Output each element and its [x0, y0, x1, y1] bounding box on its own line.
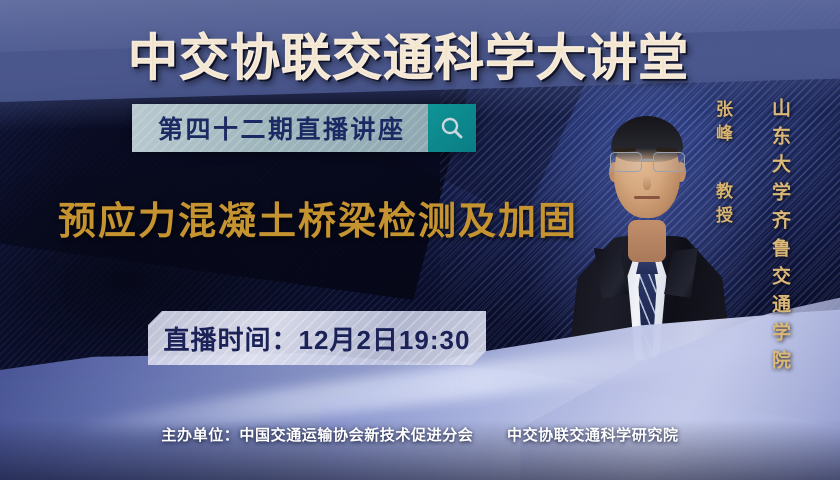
speaker-affiliation: 山东大学齐鲁交通学院 [766, 98, 793, 378]
broadcast-time-badge: 直播时间：12月2日19:30 [148, 311, 486, 365]
glasses-lens-right [653, 152, 685, 172]
glasses-bridge [640, 159, 654, 161]
portrait-glasses [608, 152, 686, 172]
session-bar: 第四十二期直播讲座 [132, 104, 476, 152]
silk-ribbon-decoration [0, 270, 840, 480]
portrait-neck [628, 220, 666, 262]
organizer-secondary: 中交协联交通科学研究院 [507, 427, 679, 444]
lecture-topic: 预应力混凝土桥梁检测及加固 [58, 190, 578, 245]
organizer-primary: 主办单位：中国交通运输协会新技术促进分会 [161, 427, 473, 444]
portrait-nose [643, 176, 651, 190]
page-title: 中交协联交通科学大讲堂 [128, 18, 689, 90]
livestream-poster: 中交协联交通科学大讲堂 第四十二期直播讲座 预应力混凝土桥梁检测及加固 直播时间… [0, 0, 840, 480]
search-icon[interactable] [428, 104, 476, 152]
portrait-mouth [634, 196, 660, 199]
glasses-lens-left [610, 152, 642, 172]
session-label: 第四十二期直播讲座 [132, 104, 428, 152]
speaker-title: 教授 [710, 182, 735, 230]
speaker-name: 张峰 [710, 100, 735, 148]
organizer-footer: 主办单位：中国交通运输协会新技术促进分会 中交协联交通科学研究院 [0, 424, 840, 445]
